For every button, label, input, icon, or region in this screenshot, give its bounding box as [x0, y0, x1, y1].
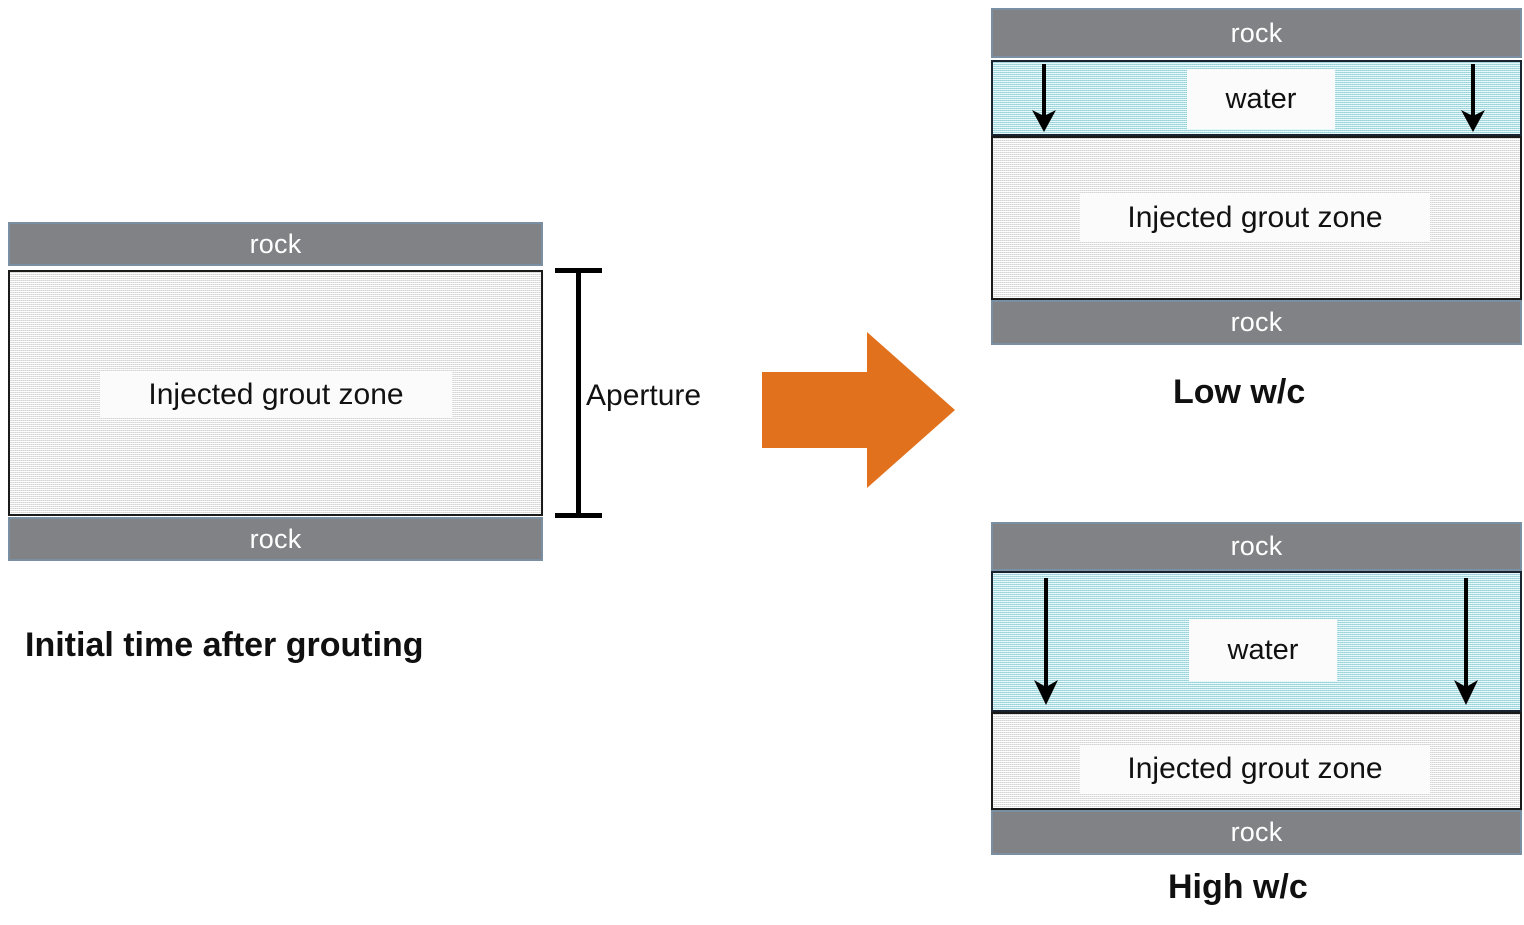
rock-label: rock	[250, 231, 302, 258]
aperture-label: Aperture	[586, 381, 701, 411]
rock-label: rock	[1231, 20, 1283, 47]
rock-label: rock	[1231, 819, 1283, 846]
low-wc-flow-arrow-left	[1026, 62, 1062, 134]
high-wc-grout-label-plaque: Injected grout zone	[1080, 745, 1430, 793]
high-wc-flow-arrow-right	[1448, 576, 1484, 707]
right-block-arrow-icon	[762, 330, 957, 490]
water-label: water	[1226, 85, 1297, 114]
injected-grout-zone-label: Injected grout zone	[1127, 203, 1382, 233]
rock-label: rock	[1231, 533, 1283, 560]
low-wc-bottom-rock-band: rock	[991, 300, 1522, 345]
rock-label: rock	[250, 526, 302, 553]
transition-arrow	[762, 330, 957, 490]
low-wc-water-label-plaque: water	[1187, 69, 1335, 129]
high-wc-water-label-plaque: water	[1189, 619, 1337, 681]
low-wc-caption: Low w/c	[1173, 375, 1305, 409]
water-label: water	[1228, 636, 1299, 665]
initial-grout-label-plaque: Injected grout zone	[100, 372, 452, 418]
high-wc-bottom-rock-band: rock	[991, 810, 1522, 855]
aperture-vertical-line	[576, 268, 581, 518]
injected-grout-zone-label: Injected grout zone	[1127, 754, 1382, 784]
low-wc-grout-label-plaque: Injected grout zone	[1080, 194, 1430, 242]
initial-bottom-rock-band: rock	[8, 517, 543, 561]
initial-panel-caption: Initial time after grouting	[25, 628, 424, 662]
down-arrow-icon	[1448, 576, 1484, 707]
rock-label: rock	[1231, 309, 1283, 336]
down-arrow-icon	[1028, 576, 1064, 707]
low-wc-top-rock-band: rock	[991, 8, 1522, 58]
high-wc-caption: High w/c	[1168, 870, 1308, 904]
down-arrow-icon	[1026, 62, 1062, 134]
injected-grout-zone-label: Injected grout zone	[148, 380, 403, 410]
high-wc-top-rock-band: rock	[991, 522, 1522, 571]
high-wc-flow-arrow-left	[1028, 576, 1064, 707]
aperture-bottom-tick	[555, 513, 602, 518]
initial-top-rock-band: rock	[8, 222, 543, 266]
low-wc-flow-arrow-right	[1455, 62, 1491, 134]
down-arrow-icon	[1455, 62, 1491, 134]
